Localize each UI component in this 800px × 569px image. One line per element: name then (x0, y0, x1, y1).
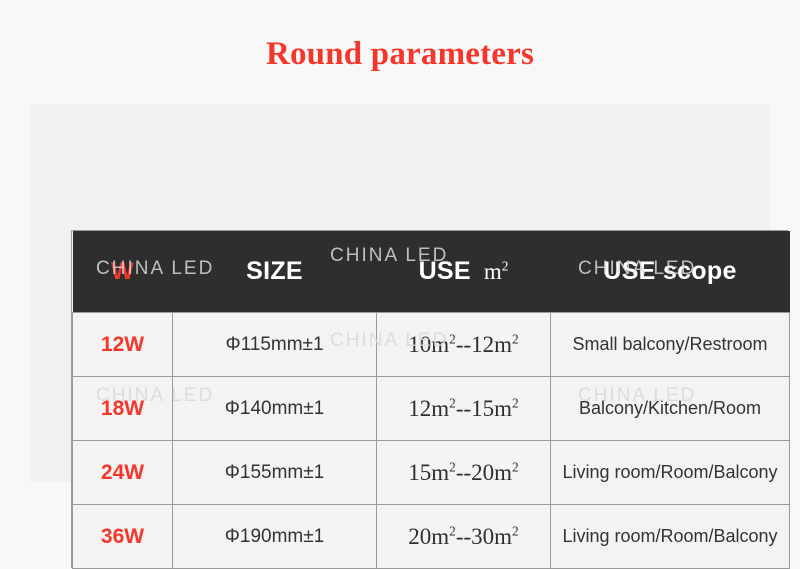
table-header-row: W SIZE USE m2 USE scope (73, 231, 790, 313)
cell-size: Φ190mm±1 (173, 505, 377, 569)
table-header: W SIZE USE m2 USE scope (73, 231, 790, 313)
column-header-scope: USE scope (551, 231, 790, 313)
cell-use-area: 12m2--15m2 (377, 377, 551, 441)
table-row: 18W Φ140mm±1 12m2--15m2 Balcony/Kitchen/… (73, 377, 790, 441)
cell-size: Φ115mm±1 (173, 313, 377, 377)
cell-wattage: 12W (73, 313, 173, 377)
column-header-w: W (73, 231, 173, 313)
column-header-size: SIZE (173, 231, 377, 313)
cell-use-area: 20m2--30m2 (377, 505, 551, 569)
parameters-table: W SIZE USE m2 USE scope 12W Φ115mm±1 10m… (72, 231, 790, 569)
table-row: 12W Φ115mm±1 10m2--12m2 Small balcony/Re… (73, 313, 790, 377)
column-header-use-unit: m2 (478, 259, 508, 284)
parameters-table-container: W SIZE USE m2 USE scope 12W Φ115mm±1 10m… (71, 230, 788, 568)
cell-use-area: 15m2--20m2 (377, 441, 551, 505)
column-header-use: USE m2 (377, 231, 551, 313)
cell-use-scope: Balcony/Kitchen/Room (551, 377, 790, 441)
cell-use-scope: Small balcony/Restroom (551, 313, 790, 377)
page-title: Round parameters (0, 36, 800, 73)
cell-wattage: 36W (73, 505, 173, 569)
cell-use-scope: Living room/Room/Balcony (551, 441, 790, 505)
column-header-use-text: USE (419, 257, 471, 285)
cell-size: Φ140mm±1 (173, 377, 377, 441)
table-body: 12W Φ115mm±1 10m2--12m2 Small balcony/Re… (73, 313, 790, 569)
cell-use-scope: Living room/Room/Balcony (551, 505, 790, 569)
cell-wattage: 24W (73, 441, 173, 505)
cell-size: Φ155mm±1 (173, 441, 377, 505)
table-panel: W SIZE USE m2 USE scope 12W Φ115mm±1 10m… (30, 104, 770, 482)
table-row: 36W Φ190mm±1 20m2--30m2 Living room/Room… (73, 505, 790, 569)
cell-use-area: 10m2--12m2 (377, 313, 551, 377)
page-root: Round parameters W SIZE USE m2 USE scope (0, 0, 800, 513)
cell-wattage: 18W (73, 377, 173, 441)
table-row: 24W Φ155mm±1 15m2--20m2 Living room/Room… (73, 441, 790, 505)
